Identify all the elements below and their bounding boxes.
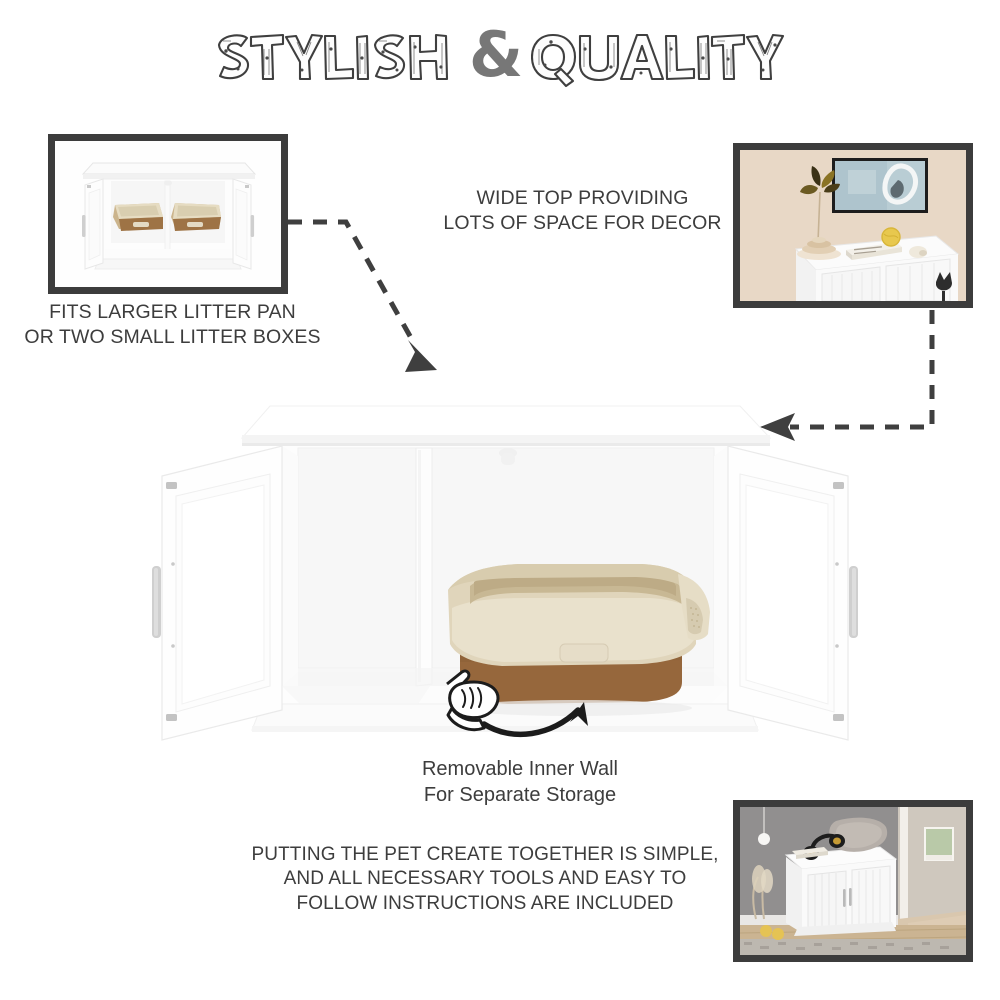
caption-assembly-line2: AND ALL NECESSARY TOOLS AND EASY TO bbox=[215, 867, 755, 891]
inset-litter-pan-image bbox=[55, 141, 281, 287]
inset-litter-pan-capacity[interactable] bbox=[48, 134, 288, 294]
caption-fits-litter-pan-line2: OR TWO SMALL LITTER BOXES bbox=[0, 325, 345, 350]
page-title: & bbox=[0, 22, 1000, 94]
main-product-image bbox=[130, 368, 890, 778]
title-ampersand: & bbox=[469, 24, 523, 86]
infographic-canvas: & bbox=[0, 0, 1000, 1000]
caption-inner-wall-line1: Removable Inner Wall bbox=[355, 757, 685, 783]
caption-wide-top: WIDE TOP PROVIDING LOTS OF SPACE FOR DEC… bbox=[410, 186, 755, 236]
caption-fits-litter-pan: FITS LARGER LITTER PAN OR TWO SMALL LITT… bbox=[0, 300, 345, 350]
inset-assembled-room-image bbox=[740, 807, 966, 955]
caption-inner-wall-line2: For Separate Storage bbox=[355, 783, 685, 809]
caption-fits-litter-pan-line1: FITS LARGER LITTER PAN bbox=[0, 300, 345, 325]
title-word-quality bbox=[531, 25, 789, 91]
right-cabinet-door bbox=[728, 446, 858, 740]
caption-assembly-line1: PUTTING THE PET CREATE TOGETHER IS SIMPL… bbox=[215, 843, 755, 867]
caption-assembly-note: PUTTING THE PET CREATE TOGETHER IS SIMPL… bbox=[215, 843, 755, 916]
inset-wide-top-decor-image bbox=[740, 150, 966, 301]
title-word-stylish bbox=[211, 25, 461, 91]
inner-divider-wall bbox=[416, 448, 432, 686]
caption-removable-inner-wall: Removable Inner Wall For Separate Storag… bbox=[355, 757, 685, 808]
caption-wide-top-line1: WIDE TOP PROVIDING bbox=[410, 186, 755, 211]
inset-assembled-room-scene[interactable] bbox=[733, 800, 973, 962]
caption-assembly-line3: FOLLOW INSTRUCTIONS ARE INCLUDED bbox=[215, 892, 755, 916]
inset-wide-top-decor[interactable] bbox=[733, 143, 973, 308]
left-cabinet-door bbox=[152, 446, 282, 740]
caption-wide-top-line2: LOTS OF SPACE FOR DECOR bbox=[410, 211, 755, 236]
